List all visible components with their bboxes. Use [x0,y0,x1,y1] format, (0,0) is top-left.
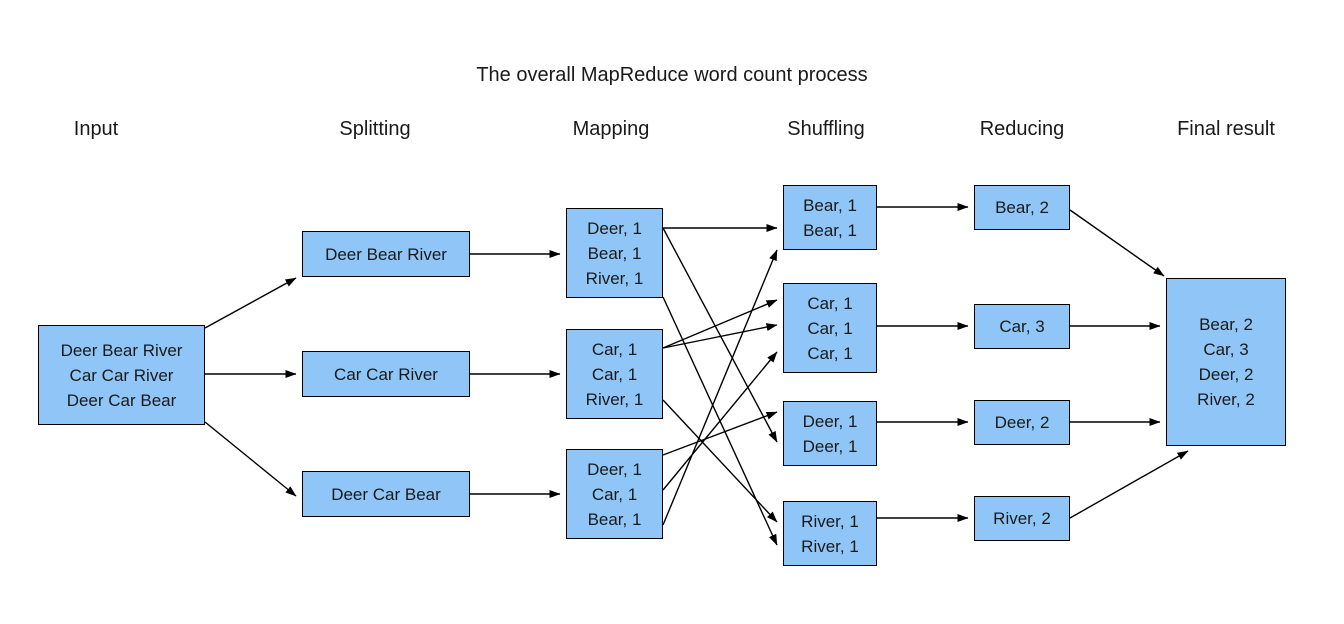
edge-reduce-river-to-final [1070,451,1188,518]
input-box[interactable]: Deer Bear RiverCar Car RiverDeer Car Bea… [38,325,205,425]
reduce-box-bear-line: Bear, 2 [995,195,1049,220]
reduce-box-river[interactable]: River, 2 [974,496,1070,541]
shuffle-box-car-line: Car, 1 [807,316,852,341]
edge-map-3-deer-to-shuffle-deer [663,412,777,455]
map-box-3-line: Bear, 1 [588,507,642,532]
edge-map-2-car-a-to-shuffle-car [663,300,777,348]
map-box-2-line: Car, 1 [592,337,637,362]
column-header-splitting: Splitting [339,118,410,141]
map-box-3[interactable]: Deer, 1Car, 1Bear, 1 [566,449,663,539]
column-header-mapping: Mapping [573,118,650,141]
shuffle-box-river[interactable]: River, 1River, 1 [783,501,877,566]
reduce-box-car[interactable]: Car, 3 [974,304,1070,349]
reduce-box-bear[interactable]: Bear, 2 [974,185,1070,230]
shuffle-box-river-line: River, 1 [801,509,859,534]
split-box-3[interactable]: Deer Car Bear [302,471,470,517]
map-box-2-line: River, 1 [586,387,644,412]
reduce-box-deer-line: Deer, 2 [995,410,1050,435]
edge-input-to-split-1 [205,278,296,328]
final-result-box-line: Deer, 2 [1199,362,1254,387]
column-header-final-result: Final result [1177,118,1275,141]
mapreduce-diagram: The overall MapReduce word count process… [0,0,1344,624]
split-box-2-line: Car Car River [334,362,438,387]
edge-map-3-car-to-shuffle-car [663,352,777,490]
shuffle-box-deer-line: Deer, 1 [803,434,858,459]
edges-layer [0,0,1344,624]
shuffle-box-car-line: Car, 1 [807,341,852,366]
split-box-3-line: Deer Car Bear [331,482,441,507]
shuffle-box-bear-line: Bear, 1 [803,218,857,243]
final-result-box-line: Bear, 2 [1199,312,1253,337]
split-box-1[interactable]: Deer Bear River [302,231,470,277]
shuffle-box-car-line: Car, 1 [807,291,852,316]
column-header-shuffling: Shuffling [787,118,864,141]
column-header-reducing: Reducing [980,118,1065,141]
reduce-box-deer[interactable]: Deer, 2 [974,400,1070,445]
edge-map-1-deer-to-shuffle-deer [663,228,777,442]
shuffle-box-deer[interactable]: Deer, 1Deer, 1 [783,401,877,466]
edge-map-1-river-to-shuffle-river [663,297,777,545]
edge-map-2-river-to-shuffle-river [663,400,777,522]
edge-map-3-bear-to-shuffle-bear [663,250,777,525]
diagram-title: The overall MapReduce word count process [0,64,1344,87]
split-box-1-line: Deer Bear River [325,242,447,267]
map-box-2-line: Car, 1 [592,362,637,387]
column-header-input: Input [74,118,118,141]
edge-map-2-car-b-to-shuffle-car [663,325,777,348]
map-box-1-line: Deer, 1 [587,216,642,241]
final-result-box-line: River, 2 [1197,387,1255,412]
map-box-1[interactable]: Deer, 1Bear, 1River, 1 [566,208,663,298]
shuffle-box-river-line: River, 1 [801,534,859,559]
input-box-line: Deer Bear River [61,338,183,363]
final-result-box[interactable]: Bear, 2Car, 3Deer, 2River, 2 [1166,278,1286,446]
map-box-1-line: Bear, 1 [588,241,642,266]
reduce-box-river-line: River, 2 [993,506,1051,531]
input-box-line: Deer Car Bear [67,388,177,413]
reduce-box-car-line: Car, 3 [999,314,1044,339]
shuffle-box-bear[interactable]: Bear, 1Bear, 1 [783,185,877,250]
shuffle-box-car[interactable]: Car, 1Car, 1Car, 1 [783,283,877,373]
map-box-2[interactable]: Car, 1Car, 1River, 1 [566,329,663,419]
map-box-1-line: River, 1 [586,266,644,291]
input-box-line: Car Car River [70,363,174,388]
map-box-3-line: Car, 1 [592,482,637,507]
map-box-3-line: Deer, 1 [587,457,642,482]
shuffle-box-bear-line: Bear, 1 [803,193,857,218]
split-box-2[interactable]: Car Car River [302,351,470,397]
edge-reduce-bear-to-final [1070,210,1164,276]
final-result-box-line: Car, 3 [1203,337,1248,362]
edge-input-to-split-3 [205,422,296,496]
shuffle-box-deer-line: Deer, 1 [803,409,858,434]
